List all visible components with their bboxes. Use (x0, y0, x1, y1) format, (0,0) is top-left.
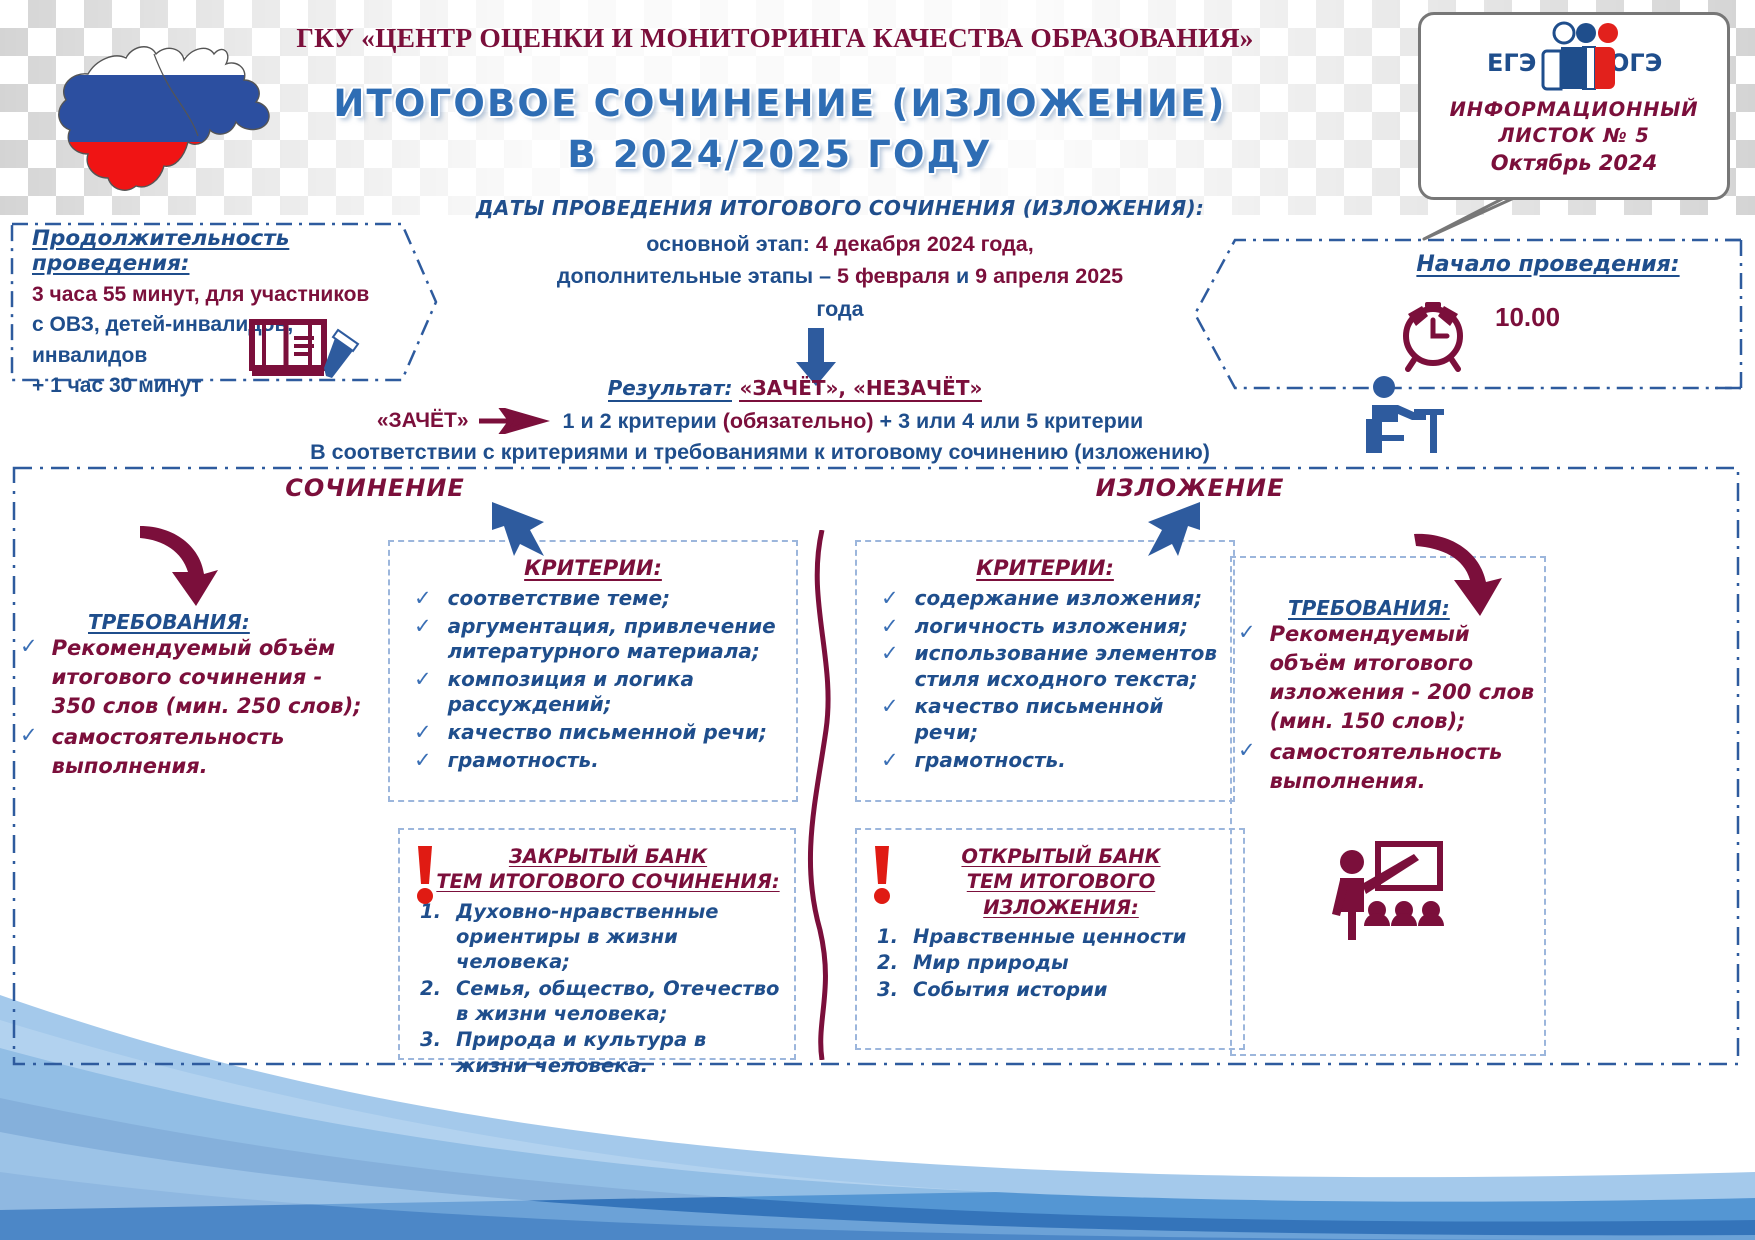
check-icon: ✓ (1238, 738, 1256, 763)
criterion-text: логичность изложения; (915, 614, 1188, 640)
duration-line-1: 3 часа 55 минут, для участников (32, 280, 432, 310)
start-time-heading: Начало проведения: (1393, 252, 1703, 277)
page-title-line1: ИТОГОВОЕ СОЧИНЕНИЕ (ИЗЛОЖЕНИЕ) (300, 78, 1260, 129)
duration-line-3: инвалидов (32, 341, 432, 371)
student-at-desk-icon (1358, 375, 1450, 457)
essay-criteria-box: КРИТЕРИИ: ✓соответствие теме; ✓аргумента… (388, 540, 798, 802)
list-item: ✓содержание изложения; (881, 586, 1221, 612)
open-bank-list: 1.Нравственные ценности 2.Мир природы 3.… (867, 924, 1233, 1002)
duration-line-4: + 1 час 30 минут (32, 371, 432, 401)
list-item: 2.Мир природы (877, 950, 1233, 975)
list-item: ✓Рекомендуемый объём итогового сочинения… (20, 634, 370, 721)
list-number: 1. (877, 924, 901, 949)
list-item: 1.Нравственные ценности (877, 924, 1233, 949)
check-icon: ✓ (20, 634, 38, 659)
additional-date-1: 5 февраля (837, 264, 950, 288)
list-number: 3. (877, 977, 901, 1002)
curved-arrow-down-left-icon (130, 520, 240, 610)
dates-heading: ДАТЫ ПРОВЕДЕНИЯ ИТОГОВОГО СОЧИНЕНИЯ (ИЗЛ… (470, 196, 1210, 220)
open-bank-heading-line2: ТЕМ ИТОГОВОГО ИЗЛОЖЕНИЯ: (967, 870, 1155, 918)
essay-requirements-list: ✓Рекомендуемый объём итогового сочинения… (20, 634, 370, 781)
check-icon: ✓ (414, 614, 432, 639)
essay-criteria-list: ✓соответствие теме; ✓аргументация, привл… (390, 586, 796, 773)
closed-bank-list: 1.Духовно-нравственные ориентиры в жизни… (410, 899, 784, 1078)
bank-topic: Духовно-нравственные ориентиры в жизни ч… (456, 899, 784, 975)
list-number: 2. (877, 950, 901, 975)
section-label-exposition: ИЗЛОЖЕНИЕ (1020, 474, 1360, 502)
check-icon: ✓ (1238, 620, 1256, 645)
duration-heading: Продолжительность проведения: (32, 226, 432, 276)
zachet-desc-a: 1 и 2 критерии (563, 409, 723, 433)
exposition-requirements-list: ✓Рекомендуемый объём итогового изложения… (1238, 620, 1550, 796)
arrow-down-right-icon (1140, 500, 1202, 558)
criterion-text: соответствие теме; (448, 586, 670, 612)
info-bulletin-bubble: ЕГЭ ОГЭ ИНФОРМАЦИОННЫЙ ЛИСТОК № 5 Октябр… (1418, 12, 1730, 200)
exclamation-mark-icon (414, 846, 436, 904)
bank-topic: События истории (913, 977, 1107, 1002)
additional-date-2: 9 апреля 2025 (975, 264, 1123, 288)
criterion-text: грамотность. (448, 748, 599, 774)
zachet-desc-c: + 3 или 4 или 5 критерии (874, 409, 1144, 433)
list-item: ✓качество письменной речи; (414, 720, 784, 746)
zachet-row: «ЗАЧЁТ» 1 и 2 критерии (обязательно) + 3… (250, 408, 1270, 434)
list-number: 2. (420, 976, 444, 1001)
organization-title: ГКУ «ЦЕНТР ОЦЕНКИ И МОНИТОРИНГА КАЧЕСТВА… (290, 22, 1260, 54)
requirement-text: самостоятельность выполнения. (1270, 738, 1550, 796)
list-item: 3.Природа и культура в жизни человека. (420, 1027, 784, 1078)
bank-topic: Нравственные ценности (913, 924, 1186, 949)
page-title-line2: В 2024/2025 ГОДУ (300, 129, 1260, 180)
criterion-text: грамотность. (915, 748, 1066, 774)
essay-requirements-heading: ТРЕБОВАНИЯ: (88, 610, 370, 634)
teacher-at-board-icon (1328, 840, 1450, 944)
check-icon: ✓ (881, 694, 899, 719)
dates-additional-stages: дополнительные этапы – 5 февраля и 9 апр… (470, 260, 1210, 292)
list-item: ✓логичность изложения; (881, 614, 1221, 640)
criterion-text: аргументация, привлечение литературного … (448, 614, 784, 665)
duration-value: 3 часа 55 минут, для участников (32, 283, 369, 306)
bank-topic: Мир природы (913, 950, 1069, 975)
check-icon: ✓ (414, 720, 432, 745)
open-bank-heading-line1: ОТКРЫТЫЙ БАНК (961, 845, 1160, 868)
check-icon: ✓ (414, 586, 432, 611)
closed-bank-box: ЗАКРЫТЫЙ БАНК ТЕМ ИТОГОВОГО СОЧИНЕНИЯ: 1… (398, 828, 796, 1060)
closed-bank-heading-line2: ТЕМ ИТОГОВОГО СОЧИНЕНИЯ: (436, 870, 779, 893)
list-item: ✓аргументация, привлечение литературного… (414, 614, 784, 665)
exposition-criteria-heading: КРИТЕРИИ: (857, 556, 1233, 580)
main-stage-label: основной этап: (646, 232, 816, 256)
exposition-criteria-box: КРИТЕРИИ: ✓содержание изложения; ✓логичн… (855, 540, 1235, 802)
requirement-text: самостоятельность выполнения. (52, 723, 370, 781)
bulletin-line3: Октябрь 2024 (1421, 149, 1727, 177)
zachet-word: «ЗАЧЁТ» (377, 409, 469, 433)
closed-bank-heading-line1: ЗАКРЫТЫЙ БАНК (509, 845, 707, 868)
list-number: 3. (420, 1027, 444, 1052)
list-item: ✓Рекомендуемый объём итогового изложения… (1238, 620, 1550, 736)
exclamation-mark-icon (871, 846, 893, 904)
zachet-description: 1 и 2 критерии (обязательно) + 3 или 4 и… (563, 409, 1144, 434)
bulletin-text: ИНФОРМАЦИОННЫЙ ЛИСТОК № 5 Октябрь 2024 (1421, 97, 1727, 177)
open-bank-box: ОТКРЫТЫЙ БАНК ТЕМ ИТОГОВОГО ИЗЛОЖЕНИЯ: 1… (855, 828, 1245, 1050)
compliance-note: В соответствии с критериями и требования… (250, 440, 1270, 465)
alarm-clock-icon (1392, 290, 1474, 372)
arrow-down-left-icon (490, 500, 552, 558)
exam-dates-block: ДАТЫ ПРОВЕДЕНИЯ ИТОГОВОГО СОЧИНЕНИЯ (ИЗЛ… (470, 196, 1210, 325)
open-bank-heading: ОТКРЫТЫЙ БАНК ТЕМ ИТОГОВОГО ИЗЛОЖЕНИЯ: (867, 844, 1233, 920)
list-item: 1.Духовно-нравственные ориентиры в жизни… (420, 899, 784, 975)
svg-text:ОГЭ: ОГЭ (1609, 49, 1662, 77)
check-icon: ✓ (881, 641, 899, 666)
check-icon: ✓ (414, 748, 432, 773)
check-icon: ✓ (881, 614, 899, 639)
exposition-requirements-block: ТРЕБОВАНИЯ: ✓Рекомендуемый объём итогово… (1238, 596, 1550, 798)
list-item: ✓грамотность. (414, 748, 784, 774)
start-time-value: 10.00 (1495, 302, 1560, 333)
exposition-requirements-heading: ТРЕБОВАНИЯ: (1288, 596, 1550, 620)
criterion-text: композиция и логика рассуждений; (448, 667, 784, 718)
bank-topic: Семья, общество, Отечество в жизни челов… (456, 976, 784, 1027)
list-item: ✓композиция и логика рассуждений; (414, 667, 784, 718)
and-conjunction: и (950, 264, 975, 288)
ege-oge-logo-icon: ЕГЭ ОГЭ (1481, 21, 1671, 95)
criterion-text: содержание изложения; (915, 586, 1203, 612)
essay-criteria-heading: КРИТЕРИИ: (390, 556, 796, 580)
main-stage-date: 4 декабря 2024 года, (816, 232, 1034, 256)
criterion-text: использование элементов стиля исходного … (915, 641, 1221, 692)
list-item: ✓самостоятельность выполнения. (1238, 738, 1550, 796)
check-icon: ✓ (20, 723, 38, 748)
result-heading: Результат: «ЗАЧЁТ», «НЕЗАЧЁТ» (560, 376, 1030, 400)
open-bank-content: ОТКРЫТЫЙ БАНК ТЕМ ИТОГОВОГО ИЗЛОЖЕНИЯ: 1… (857, 830, 1243, 1002)
closed-bank-heading: ЗАКРЫТЫЙ БАНК ТЕМ ИТОГОВОГО СОЧИНЕНИЯ: (410, 844, 784, 895)
duration-block: Продолжительность проведения: 3 часа 55 … (32, 226, 432, 402)
result-label: Результат: (608, 376, 733, 402)
zachet-desc-mandatory: (обязательно) (723, 409, 874, 433)
section-label-essay: СОЧИНЕНИЕ (215, 474, 535, 502)
list-item: 2.Семья, общество, Отечество в жизни чел… (420, 976, 784, 1027)
list-item: 3.События истории (877, 977, 1233, 1002)
svg-text:ЕГЭ: ЕГЭ (1487, 49, 1536, 77)
list-item: ✓использование элементов стиля исходного… (881, 641, 1221, 692)
list-item: ✓грамотность. (881, 748, 1221, 774)
check-icon: ✓ (881, 748, 899, 773)
section-divider (792, 530, 852, 1060)
essay-requirements-block: ТРЕБОВАНИЯ: ✓Рекомендуемый объём итогово… (20, 610, 370, 783)
criterion-text: качество письменной речи; (448, 720, 767, 746)
result-values: «ЗАЧЁТ», «НЕЗАЧЁТ» (739, 376, 982, 402)
requirement-text: Рекомендуемый объём итогового изложения … (1270, 620, 1550, 736)
arrow-right-icon (479, 408, 553, 434)
requirement-text: Рекомендуемый объём итогового сочинения … (52, 634, 370, 721)
criterion-text: качество письменной речи; (915, 694, 1221, 745)
book-and-pencil-icon (248, 312, 366, 380)
closed-bank-content: ЗАКРЫТЫЙ БАНК ТЕМ ИТОГОВОГО СОЧИНЕНИЯ: 1… (400, 830, 794, 1078)
exposition-criteria-list: ✓содержание изложения; ✓логичность излож… (857, 586, 1233, 773)
crimea-map-icon (36, 8, 286, 208)
dates-year-suffix: года (470, 293, 1210, 325)
list-item: ✓соответствие теме; (414, 586, 784, 612)
page-title: ИТОГОВОЕ СОЧИНЕНИЕ (ИЗЛОЖЕНИЕ) В 2024/20… (300, 78, 1260, 180)
check-icon: ✓ (414, 667, 432, 692)
duration-line-2: с ОВЗ, детей-инвалидов, (32, 310, 432, 340)
list-item: ✓самостоятельность выполнения. (20, 723, 370, 781)
bank-topic: Природа и культура в жизни человека. (456, 1027, 784, 1078)
list-item: ✓качество письменной речи; (881, 694, 1221, 745)
bulletin-line2: ЛИСТОК № 5 (1421, 123, 1727, 149)
check-icon: ✓ (881, 586, 899, 611)
dates-main-stage: основной этап: 4 декабря 2024 года, (470, 228, 1210, 260)
additional-stage-label: дополнительные этапы – (557, 264, 837, 288)
bulletin-line1: ИНФОРМАЦИОННЫЙ (1421, 97, 1727, 123)
